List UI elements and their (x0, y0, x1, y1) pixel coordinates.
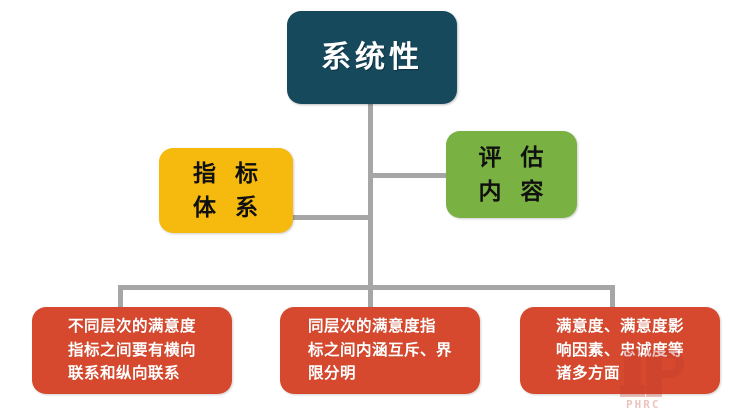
node-leaf-cross-level-linkage[interactable]: 不同层次的满意度 指标之间要有横向 联系和纵向联系 (32, 307, 232, 394)
node-evaluation-content-char1: 评 (479, 144, 503, 170)
connector-drop-leaf-2 (610, 285, 615, 309)
watermark-caption: PHRC (626, 398, 661, 411)
node-leaf-0-line2: 指标之间要有横向 (68, 339, 196, 363)
connector-drop-leaf-0 (118, 285, 123, 309)
node-leaf-0-label: 不同层次的满意度 指标之间要有横向 联系和纵向联系 (68, 315, 196, 386)
node-leaf-2-line2: 响因素、忠诚度等 (556, 339, 684, 363)
node-leaf-1-line2: 标之间内涵互斥、界 (308, 339, 452, 363)
node-root-label: 系统性 (321, 40, 423, 76)
node-indicator-system-char1: 指 (193, 160, 217, 186)
node-leaf-1-label: 同层次的满意度指 标之间内涵互斥、界 限分明 (308, 315, 452, 386)
node-evaluation-content[interactable]: 评估 内容 (446, 131, 577, 218)
connector-to-green-branch (368, 173, 448, 178)
node-indicator-system-char4: 系 (235, 194, 259, 220)
node-leaf-0-line3: 联系和纵向联系 (68, 362, 196, 386)
node-evaluation-content-char2: 估 (521, 144, 545, 170)
node-leaf-same-level-exclusivity[interactable]: 同层次的满意度指 标之间内涵互斥、界 限分明 (280, 307, 480, 394)
node-evaluation-content-char4: 容 (521, 178, 545, 204)
diagram-canvas: 系统性 指标 体系 评估 内容 不同层次的满意度 指标之间要有横向 联系和纵向 (0, 0, 732, 420)
node-leaf-2-label: 满意度、满意度影 响因素、忠诚度等 诸多方面 (556, 315, 684, 386)
node-leaf-2-line1: 满意度、满意度影 (556, 315, 684, 339)
node-leaf-1-line1: 同层次的满意度指 (308, 315, 452, 339)
node-indicator-system-line2: 体系 (193, 191, 259, 224)
node-evaluation-content-line1: 评估 (479, 141, 545, 174)
connector-to-yellow-branch (291, 215, 370, 220)
node-indicator-system[interactable]: 指标 体系 (159, 148, 293, 233)
connector-root-trunk (368, 104, 373, 287)
node-evaluation-content-char3: 内 (479, 178, 503, 204)
node-root-systematic[interactable]: 系统性 (287, 11, 457, 104)
node-indicator-system-label: 指标 体系 (193, 157, 259, 224)
node-indicator-system-line1: 指标 (193, 157, 259, 190)
node-leaf-1-line3: 限分明 (308, 362, 452, 386)
node-leaf-2-line3: 诸多方面 (556, 362, 684, 386)
node-evaluation-content-label: 评估 内容 (479, 141, 545, 208)
node-leaf-0-line1: 不同层次的满意度 (68, 315, 196, 339)
node-evaluation-content-line2: 内容 (479, 175, 545, 208)
node-leaf-satisfaction-aspects[interactable]: 满意度、满意度影 响因素、忠诚度等 诸多方面 (520, 307, 720, 394)
node-indicator-system-char2: 标 (235, 160, 259, 186)
node-indicator-system-char3: 体 (193, 194, 217, 220)
connector-drop-leaf-1 (368, 285, 373, 309)
connector-distribution-bar (118, 285, 615, 290)
